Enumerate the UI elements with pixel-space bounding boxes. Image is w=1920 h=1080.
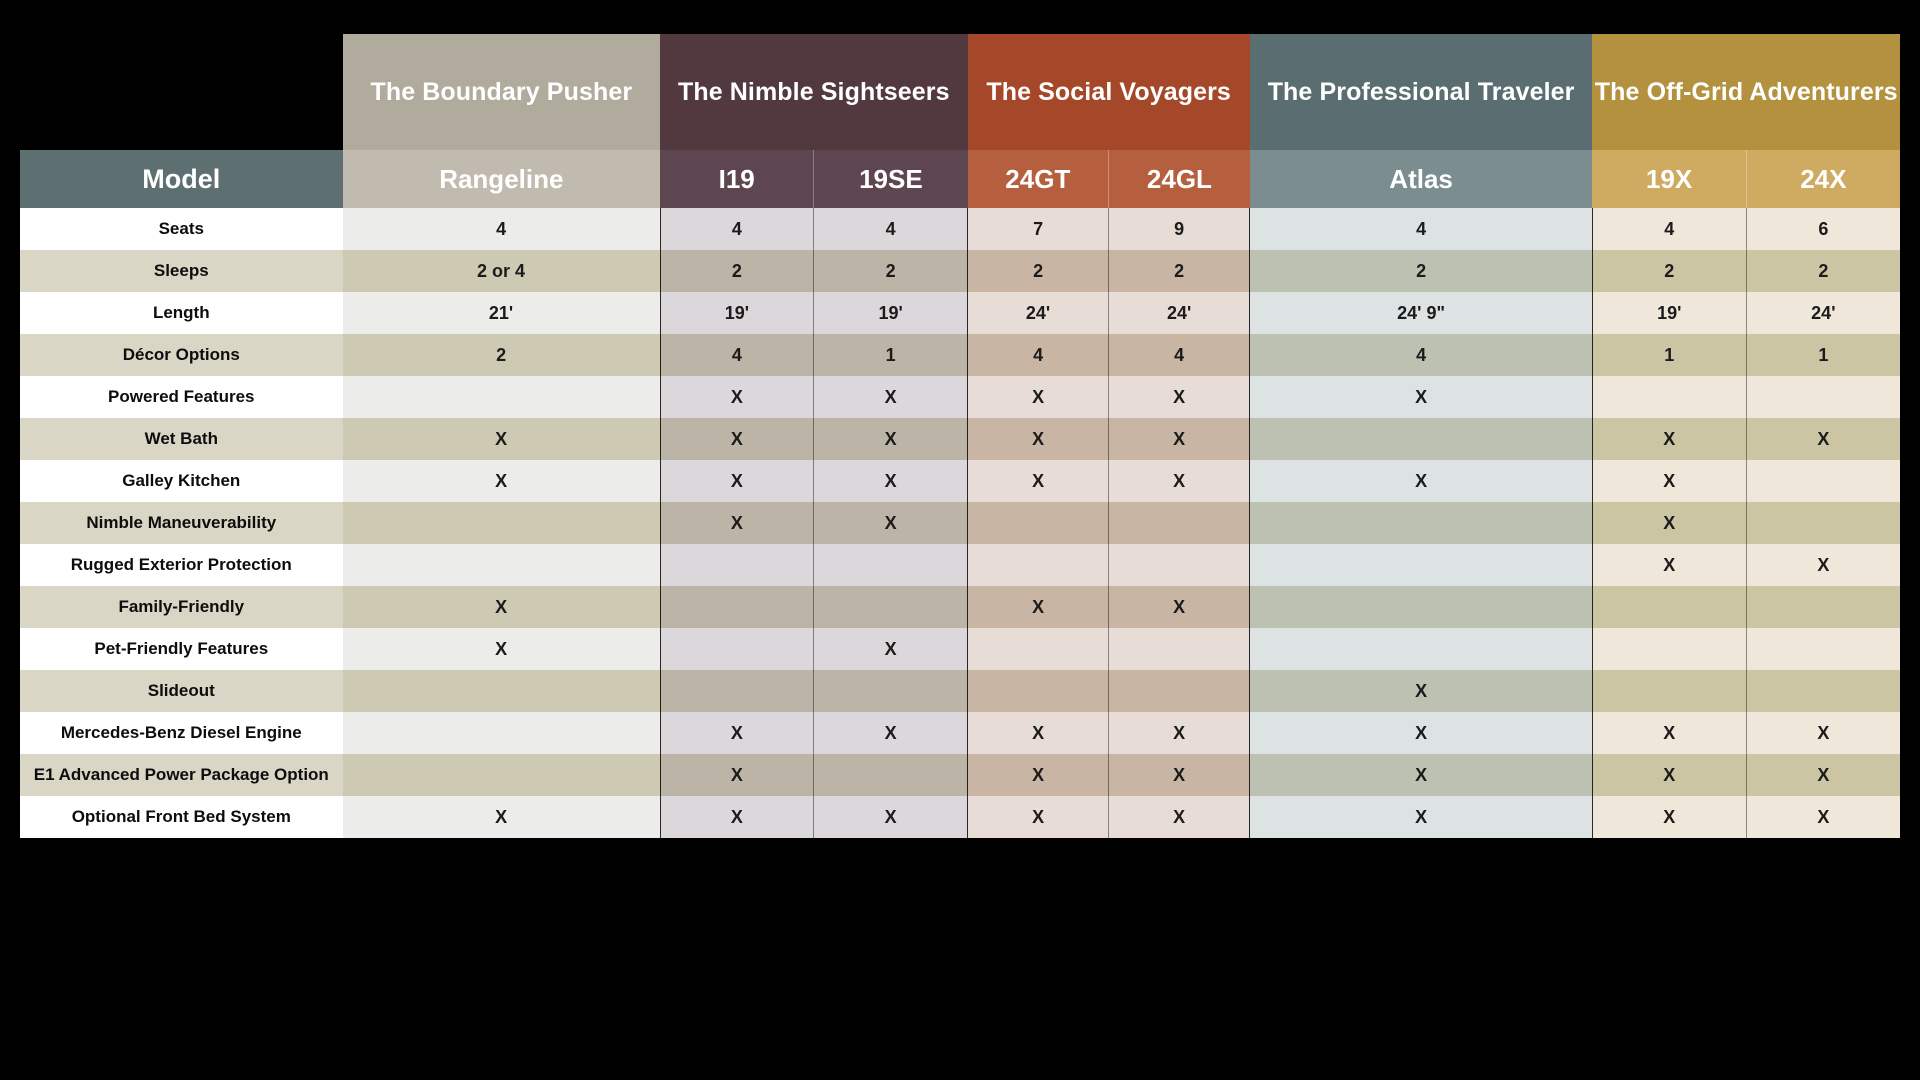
cell-6-7: [1746, 460, 1900, 502]
cell-13-7: X: [1746, 754, 1900, 796]
cell-12-1: X: [660, 712, 814, 754]
cell-6-2: X: [814, 460, 968, 502]
table-row: Pet-Friendly FeaturesXX: [20, 628, 1900, 670]
model-header-19x[interactable]: 19X: [1592, 150, 1746, 208]
cell-11-2: [814, 670, 968, 712]
cell-10-0: X: [343, 628, 661, 670]
cell-0-1: 4: [660, 208, 814, 250]
table-row: Optional Front Bed SystemXXXXXXXX: [20, 796, 1900, 838]
model-header-19se[interactable]: 19SE: [814, 150, 968, 208]
group-header-spacer: [20, 34, 343, 150]
cell-8-5: [1250, 544, 1593, 586]
table-row: Nimble ManeuverabilityXXX: [20, 502, 1900, 544]
cell-3-4: 4: [1109, 334, 1250, 376]
cell-13-2: [814, 754, 968, 796]
group-header-2: The Social Voyagers: [968, 34, 1250, 150]
cell-6-6: X: [1592, 460, 1746, 502]
cell-9-4: X: [1109, 586, 1250, 628]
row-label-12: Mercedes-Benz Diesel Engine: [20, 712, 343, 754]
group-header-0: The Boundary Pusher: [343, 34, 661, 150]
cell-10-3: [968, 628, 1109, 670]
cell-7-0: [343, 502, 661, 544]
cell-13-3: X: [968, 754, 1109, 796]
cell-13-0: [343, 754, 661, 796]
cell-5-1: X: [660, 418, 814, 460]
cell-6-1: X: [660, 460, 814, 502]
cell-14-5: X: [1250, 796, 1593, 838]
cell-8-1: [660, 544, 814, 586]
cell-14-7: X: [1746, 796, 1900, 838]
cell-5-6: X: [1592, 418, 1746, 460]
table-body: Seats44479446Sleeps2 or 42222222Length21…: [20, 208, 1900, 838]
cell-2-7: 24': [1746, 292, 1900, 334]
cell-5-4: X: [1109, 418, 1250, 460]
cell-10-6: [1592, 628, 1746, 670]
cell-8-6: X: [1592, 544, 1746, 586]
cell-9-7: [1746, 586, 1900, 628]
cell-1-4: 2: [1109, 250, 1250, 292]
model-header-rangeline[interactable]: Rangeline: [343, 150, 661, 208]
table-row: Décor Options24144411: [20, 334, 1900, 376]
cell-3-3: 4: [968, 334, 1109, 376]
comparison-table-page: The Boundary PusherThe Nimble Sightseers…: [0, 0, 1920, 1080]
cell-11-1: [660, 670, 814, 712]
cell-0-7: 6: [1746, 208, 1900, 250]
table-row: Wet BathXXXXXXX: [20, 418, 1900, 460]
cell-12-0: [343, 712, 661, 754]
row-label-0: Seats: [20, 208, 343, 250]
cell-7-7: [1746, 502, 1900, 544]
table-row: E1 Advanced Power Package OptionXXXXXX: [20, 754, 1900, 796]
table-row: Family-FriendlyXXX: [20, 586, 1900, 628]
cell-5-2: X: [814, 418, 968, 460]
cell-14-0: X: [343, 796, 661, 838]
group-header-row: The Boundary PusherThe Nimble Sightseers…: [20, 34, 1900, 150]
cell-1-1: 2: [660, 250, 814, 292]
cell-4-4: X: [1109, 376, 1250, 418]
cell-5-7: X: [1746, 418, 1900, 460]
model-header-24x[interactable]: 24X: [1746, 150, 1900, 208]
cell-2-0: 21': [343, 292, 661, 334]
cell-11-0: [343, 670, 661, 712]
cell-3-5: 4: [1250, 334, 1593, 376]
cell-9-6: [1592, 586, 1746, 628]
cell-5-5: [1250, 418, 1593, 460]
cell-7-3: [968, 502, 1109, 544]
cell-10-4: [1109, 628, 1250, 670]
table-row: Powered FeaturesXXXXX: [20, 376, 1900, 418]
cell-10-5: [1250, 628, 1593, 670]
table-row: Rugged Exterior ProtectionXX: [20, 544, 1900, 586]
cell-6-3: X: [968, 460, 1109, 502]
cell-3-0: 2: [343, 334, 661, 376]
cell-2-3: 24': [968, 292, 1109, 334]
cell-14-1: X: [660, 796, 814, 838]
cell-0-4: 9: [1109, 208, 1250, 250]
group-header-4: The Off-Grid Adventurers: [1592, 34, 1900, 150]
cell-9-2: [814, 586, 968, 628]
cell-9-1: [660, 586, 814, 628]
cell-9-5: [1250, 586, 1593, 628]
cell-0-0: 4: [343, 208, 661, 250]
cell-1-3: 2: [968, 250, 1109, 292]
row-label-10: Pet-Friendly Features: [20, 628, 343, 670]
cell-11-4: [1109, 670, 1250, 712]
cell-13-5: X: [1250, 754, 1593, 796]
cell-0-5: 4: [1250, 208, 1593, 250]
table-row: Seats44479446: [20, 208, 1900, 250]
row-label-6: Galley Kitchen: [20, 460, 343, 502]
model-header-i19[interactable]: I19: [660, 150, 814, 208]
cell-5-3: X: [968, 418, 1109, 460]
table-row: Mercedes-Benz Diesel EngineXXXXXXX: [20, 712, 1900, 754]
row-label-1: Sleeps: [20, 250, 343, 292]
cell-12-6: X: [1592, 712, 1746, 754]
table-row: Length21'19'19'24'24'24' 9"19'24': [20, 292, 1900, 334]
cell-2-4: 24': [1109, 292, 1250, 334]
cell-3-7: 1: [1746, 334, 1900, 376]
model-header-atlas[interactable]: Atlas: [1250, 150, 1593, 208]
table-row: Galley KitchenXXXXXXX: [20, 460, 1900, 502]
cell-4-5: X: [1250, 376, 1593, 418]
cell-13-4: X: [1109, 754, 1250, 796]
row-label-14: Optional Front Bed System: [20, 796, 343, 838]
cell-4-7: [1746, 376, 1900, 418]
cell-4-2: X: [814, 376, 968, 418]
cell-7-5: [1250, 502, 1593, 544]
table-row: SlideoutX: [20, 670, 1900, 712]
cell-14-3: X: [968, 796, 1109, 838]
row-label-7: Nimble Maneuverability: [20, 502, 343, 544]
cell-8-7: X: [1746, 544, 1900, 586]
cell-8-0: [343, 544, 661, 586]
model-header-24gt[interactable]: 24GT: [968, 150, 1109, 208]
cell-12-2: X: [814, 712, 968, 754]
row-header-model-label: Model: [20, 150, 343, 208]
group-header-1: The Nimble Sightseers: [660, 34, 967, 150]
cell-13-6: X: [1592, 754, 1746, 796]
cell-2-5: 24' 9": [1250, 292, 1593, 334]
cell-14-6: X: [1592, 796, 1746, 838]
cell-1-2: 2: [814, 250, 968, 292]
table-row: Sleeps2 or 42222222: [20, 250, 1900, 292]
table-head: The Boundary PusherThe Nimble Sightseers…: [20, 34, 1900, 208]
cell-14-2: X: [814, 796, 968, 838]
cell-11-5: X: [1250, 670, 1593, 712]
cell-10-2: X: [814, 628, 968, 670]
cell-11-6: [1592, 670, 1746, 712]
cell-6-5: X: [1250, 460, 1593, 502]
row-label-3: Décor Options: [20, 334, 343, 376]
model-header-24gl[interactable]: 24GL: [1109, 150, 1250, 208]
row-label-8: Rugged Exterior Protection: [20, 544, 343, 586]
cell-2-1: 19': [660, 292, 814, 334]
cell-12-3: X: [968, 712, 1109, 754]
cell-1-5: 2: [1250, 250, 1593, 292]
cell-0-3: 7: [968, 208, 1109, 250]
model-header-row: ModelRangelineI1919SE24GT24GLAtlas19X24X: [20, 150, 1900, 208]
row-label-2: Length: [20, 292, 343, 334]
cell-6-0: X: [343, 460, 661, 502]
cell-7-2: X: [814, 502, 968, 544]
cell-6-4: X: [1109, 460, 1250, 502]
cell-1-0: 2 or 4: [343, 250, 661, 292]
row-label-9: Family-Friendly: [20, 586, 343, 628]
cell-2-2: 19': [814, 292, 968, 334]
cell-3-1: 4: [660, 334, 814, 376]
cell-11-3: [968, 670, 1109, 712]
cell-9-3: X: [968, 586, 1109, 628]
cell-12-5: X: [1250, 712, 1593, 754]
cell-8-2: [814, 544, 968, 586]
row-label-4: Powered Features: [20, 376, 343, 418]
cell-7-4: [1109, 502, 1250, 544]
cell-10-7: [1746, 628, 1900, 670]
cell-4-3: X: [968, 376, 1109, 418]
cell-13-1: X: [660, 754, 814, 796]
cell-8-4: [1109, 544, 1250, 586]
cell-0-6: 4: [1592, 208, 1746, 250]
cell-7-1: X: [660, 502, 814, 544]
cell-12-4: X: [1109, 712, 1250, 754]
group-header-3: The Professional Traveler: [1250, 34, 1593, 150]
cell-4-6: [1592, 376, 1746, 418]
row-label-13: E1 Advanced Power Package Option: [20, 754, 343, 796]
cell-10-1: [660, 628, 814, 670]
cell-12-7: X: [1746, 712, 1900, 754]
model-comparison-table: The Boundary PusherThe Nimble Sightseers…: [20, 34, 1900, 838]
cell-1-6: 2: [1592, 250, 1746, 292]
cell-0-2: 4: [814, 208, 968, 250]
cell-4-1: X: [660, 376, 814, 418]
cell-1-7: 2: [1746, 250, 1900, 292]
cell-3-6: 1: [1592, 334, 1746, 376]
cell-14-4: X: [1109, 796, 1250, 838]
cell-9-0: X: [343, 586, 661, 628]
row-label-11: Slideout: [20, 670, 343, 712]
cell-8-3: [968, 544, 1109, 586]
cell-4-0: [343, 376, 661, 418]
cell-11-7: [1746, 670, 1900, 712]
row-label-5: Wet Bath: [20, 418, 343, 460]
cell-2-6: 19': [1592, 292, 1746, 334]
cell-7-6: X: [1592, 502, 1746, 544]
cell-5-0: X: [343, 418, 661, 460]
cell-3-2: 1: [814, 334, 968, 376]
